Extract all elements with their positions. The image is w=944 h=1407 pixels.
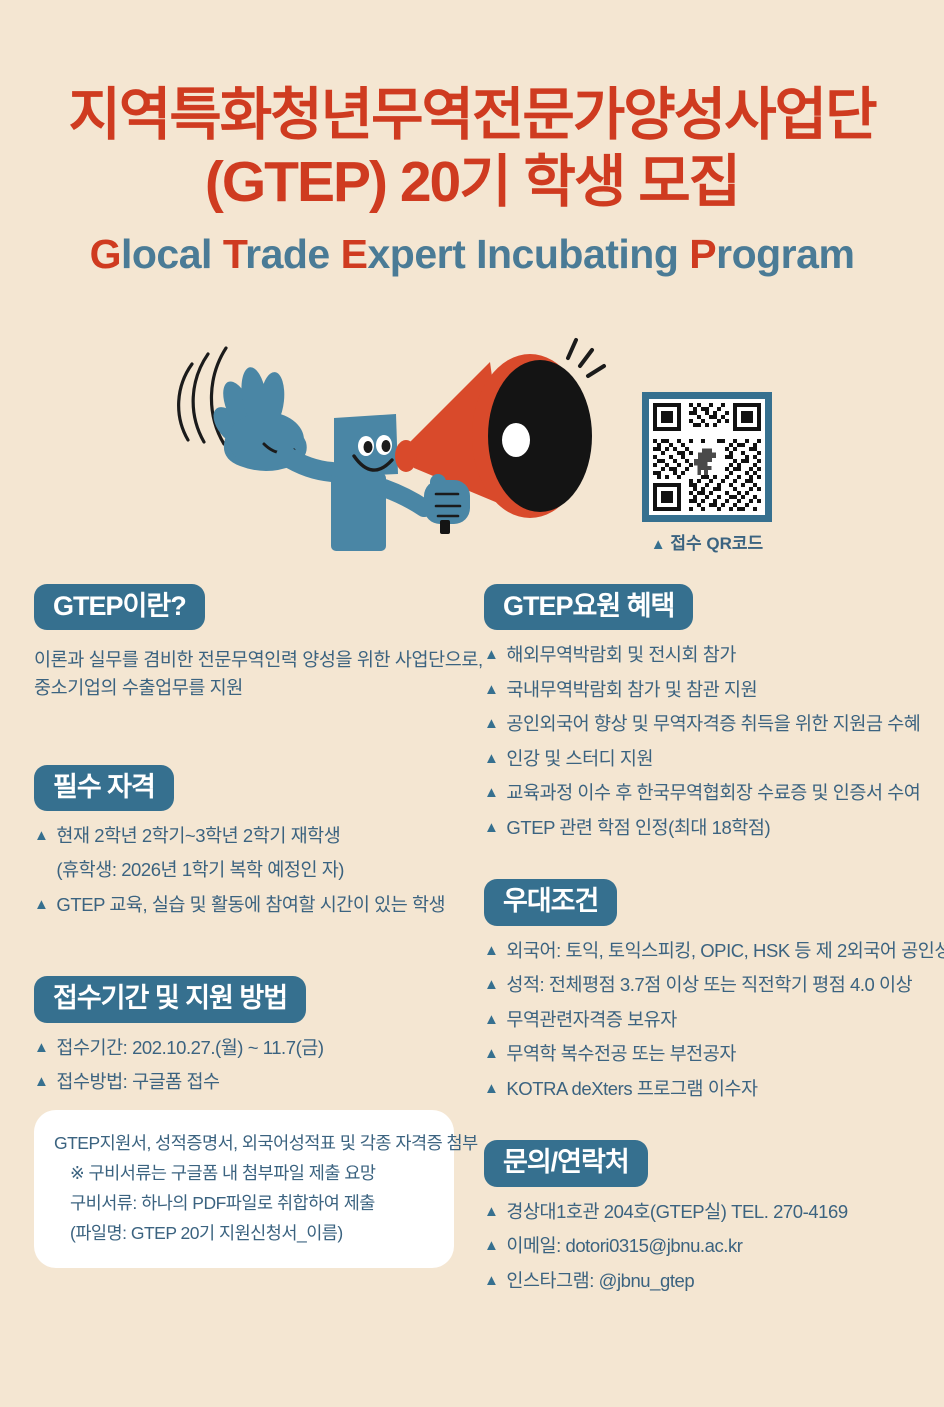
qr-code-svg [649, 399, 765, 515]
what-is-gtep-line-2: 중소기업의 수출업무를 지원 [34, 674, 484, 702]
list-item-text: 인강 및 스터디 지원 [506, 750, 653, 769]
megaphone-highlight [502, 423, 530, 457]
triangle-icon: ▲ [484, 750, 498, 767]
what-is-gtep-paragraph: 이론과 실무를 겸비한 전문무역인력 양성을 위한 사업단으로, 중소기업의 수… [34, 646, 484, 702]
list-item-text: 접수기간: 202.10.27.(월) ~ 11.7(금) [56, 1039, 323, 1058]
subtitle-part-6: P [689, 231, 716, 277]
list-item-text: 외국어: 토익, 토익스피킹, OPIC, HSK 등 제 2외국어 공인성적 … [506, 942, 944, 961]
list-item-text: 접수방법: 구글폼 접수 [56, 1073, 219, 1092]
section-contact: 문의/연락처 ▲경상대1호관 204호(GTEP실) TEL. 270-4169… [484, 1140, 924, 1290]
subtitle-part-7: rogram [716, 231, 854, 277]
list-item: ▲ 접수기간: 202.10.27.(월) ~ 11.7(금) [34, 1039, 484, 1058]
triangle-icon: ▲ [484, 1045, 498, 1062]
list-item-text: 공인외국어 향상 및 무역자격증 취득을 위한 지원금 수혜 [506, 715, 920, 734]
triangle-icon: ▲ [651, 536, 666, 553]
list-item: ▲ (휴학생: 2026년 1학기 복학 예정인 자) [34, 861, 484, 880]
preferential-list: ▲외국어: 토익, 토익스피킹, OPIC, HSK 등 제 2외국어 공인성적… [484, 942, 924, 1099]
contact-office: 경상대1호관 204호(GTEP실) TEL. 270-4169 [506, 1203, 847, 1222]
triangle-icon: ▲ [484, 1272, 498, 1289]
triangle-icon: ▲ [484, 976, 498, 993]
list-item: ▲외국어: 토익, 토익스피킹, OPIC, HSK 등 제 2외국어 공인성적… [484, 942, 924, 961]
subtitle-part-0: G [90, 231, 121, 277]
benefits-list: ▲해외무역박람회 및 전시회 참가 ▲국내무역박람회 참가 및 참관 지원 ▲공… [484, 646, 924, 837]
subtitle-part-4: E [341, 231, 368, 277]
list-item-text: KOTRA deXters 프로그램 이수자 [506, 1080, 757, 1099]
megaphone-character-illustration [168, 328, 618, 583]
poster-title-line-1: 지역특화청년무역전문가양성사업단 [0, 82, 944, 149]
triangle-icon: ▲ [34, 1039, 48, 1056]
qr-code-block[interactable]: ▲ 접수 QR코드 [634, 392, 780, 554]
documents-line-1: GTEP지원서, 성적증명서, 외국어성적표 및 각종 자격증 첨부 [54, 1128, 434, 1158]
section-what-is-gtep: GTEP이란? 이론과 실무를 겸비한 전문무역인력 양성을 위한 사업단으로,… [34, 584, 484, 703]
badge-benefits: GTEP요원 혜택 [484, 584, 693, 630]
section-benefits: GTEP요원 혜택 ▲해외무역박람회 및 전시회 참가 ▲국내무역박람회 참가 … [484, 584, 924, 837]
contact-instagram[interactable]: 인스타그램: @jbnu_gtep [506, 1272, 694, 1291]
triangle-icon: ▲ [484, 1011, 498, 1028]
badge-application: 접수기간 및 지원 방법 [34, 976, 306, 1022]
section-preferential: 우대조건 ▲외국어: 토익, 토익스피킹, OPIC, HSK 등 제 2외국어… [484, 879, 924, 1098]
section-requirements: 필수 자격 ▲ 현재 2학년 2학기~3학년 2학기 재학생 ▲ (휴학생: 2… [34, 765, 484, 915]
triangle-icon: ▲ [484, 819, 498, 836]
list-item: ▲KOTRA deXters 프로그램 이수자 [484, 1080, 924, 1099]
list-item-text: 무역학 복수전공 또는 부전공자 [506, 1045, 735, 1064]
triangle-icon: ▲ [484, 1080, 498, 1097]
list-item: ▲ 접수방법: 구글폼 접수 [34, 1073, 484, 1092]
poster-root: 지역특화청년무역전문가양성사업단 (GTEP) 20기 학생 모집 Glocal… [0, 0, 944, 1407]
triangle-icon: ▲ [484, 715, 498, 732]
poster-title-line-2: (GTEP) 20기 학생 모집 [0, 149, 944, 216]
documents-line-3: 구비서류: 하나의 PDF파일로 취합하여 제출 [54, 1188, 434, 1218]
sound-spark-icon [568, 340, 604, 376]
triangle-icon: ▲ [34, 1073, 48, 1090]
badge-preferential: 우대조건 [484, 879, 617, 925]
qr-code-label-text: 접수 QR코드 [670, 534, 763, 553]
badge-requirements: 필수 자격 [34, 765, 174, 811]
qr-code-label: ▲ 접수 QR코드 [634, 529, 780, 554]
list-item: ▲해외무역박람회 및 전시회 참가 [484, 646, 924, 665]
subtitle-part-1: local [121, 231, 223, 277]
subtitle-part-2: T [223, 231, 245, 277]
triangle-icon: ▲ [484, 784, 498, 801]
triangle-icon: ▲ [34, 827, 48, 844]
list-item-text: 국내무역박람회 참가 및 참관 지원 [506, 681, 757, 700]
list-item-text: GTEP 교육, 실습 및 활동에 참여할 시간이 있는 학생 [56, 896, 445, 915]
left-column: GTEP이란? 이론과 실무를 겸비한 전문무역인력 양성을 위한 사업단으로,… [34, 584, 484, 1268]
list-item: ▲교육과정 이수 후 한국무역협회장 수료증 및 인증서 수여 [484, 784, 924, 803]
section-application: 접수기간 및 지원 방법 ▲ 접수기간: 202.10.27.(월) ~ 11.… [34, 976, 484, 1268]
requirements-list: ▲ 현재 2학년 2학기~3학년 2학기 재학생 ▲ (휴학생: 2026년 1… [34, 827, 484, 915]
qr-code-image[interactable] [642, 392, 772, 522]
list-item: ▲ GTEP 교육, 실습 및 활동에 참여할 시간이 있는 학생 [34, 896, 484, 915]
triangle-icon: ▲ [34, 896, 48, 913]
contact-email[interactable]: 이메일: dotori0315@jbnu.ac.kr [506, 1237, 742, 1256]
right-column: GTEP요원 혜택 ▲해외무역박람회 및 전시회 참가 ▲국내무역박람회 참가 … [484, 584, 924, 1306]
poster-title-block: 지역특화청년무역전문가양성사업단 (GTEP) 20기 학생 모집 Glocal… [0, 82, 944, 278]
list-item[interactable]: ▲이메일: dotori0315@jbnu.ac.kr [484, 1237, 924, 1256]
triangle-icon: ▲ [484, 681, 498, 698]
list-item: ▲인강 및 스터디 지원 [484, 750, 924, 769]
triangle-icon: ▲ [484, 942, 498, 959]
subtitle-part-3: rade [245, 231, 341, 277]
list-item[interactable]: ▲인스타그램: @jbnu_gtep [484, 1272, 924, 1291]
list-item-text: 교육과정 이수 후 한국무역협회장 수료증 및 인증서 수여 [506, 784, 920, 803]
subtitle-part-5: xpert Incubating [367, 231, 689, 277]
megaphone-handle [440, 520, 450, 534]
triangle-icon: ▲ [484, 1237, 498, 1254]
application-documents-box: GTEP지원서, 성적증명서, 외국어성적표 및 각종 자격증 첨부 ※ 구비서… [34, 1110, 454, 1268]
list-item-text: GTEP 관련 학점 인정(최대 18학점) [506, 819, 770, 838]
list-item: ▲무역학 복수전공 또는 부전공자 [484, 1045, 924, 1064]
triangle-icon: ▲ [484, 646, 498, 663]
list-item: ▲국내무역박람회 참가 및 참관 지원 [484, 681, 924, 700]
what-is-gtep-line-1: 이론과 실무를 겸비한 전문무역인력 양성을 위한 사업단으로, [34, 646, 484, 674]
list-item: ▲성적: 전체평점 3.7점 이상 또는 직전학기 평점 4.0 이상 [484, 976, 924, 995]
list-item: ▲공인외국어 향상 및 무역자격증 취득을 위한 지원금 수혜 [484, 715, 924, 734]
list-item-text: 무역관련자격증 보유자 [506, 1011, 676, 1030]
badge-contact: 문의/연락처 [484, 1140, 648, 1186]
list-item: ▲무역관련자격증 보유자 [484, 1011, 924, 1030]
list-item-text: 현재 2학년 2학기~3학년 2학기 재학생 [56, 827, 340, 846]
poster-subtitle: Glocal Trade Expert Incubating Program [0, 231, 944, 278]
contact-list: ▲경상대1호관 204호(GTEP실) TEL. 270-4169 ▲이메일: … [484, 1203, 924, 1291]
list-item: ▲GTEP 관련 학점 인정(최대 18학점) [484, 819, 924, 838]
badge-what-is-gtep: GTEP이란? [34, 584, 205, 630]
list-item: ▲경상대1호관 204호(GTEP실) TEL. 270-4169 [484, 1203, 924, 1222]
megaphone-character-svg [168, 328, 618, 583]
list-item: ▲ 현재 2학년 2학기~3학년 2학기 재학생 [34, 827, 484, 846]
list-item-text: 성적: 전체평점 3.7점 이상 또는 직전학기 평점 4.0 이상 [506, 976, 912, 995]
application-list: ▲ 접수기간: 202.10.27.(월) ~ 11.7(금) ▲ 접수방법: … [34, 1039, 484, 1092]
triangle-icon: ▲ [484, 1203, 498, 1220]
list-item-text: (휴학생: 2026년 1학기 복학 예정인 자) [56, 861, 344, 880]
documents-line-2: ※ 구비서류는 구글폼 내 첨부파일 제출 요망 [54, 1158, 434, 1188]
documents-line-4: (파일명: GTEP 20기 지원신청서_이름) [54, 1218, 434, 1248]
list-item-text: 해외무역박람회 및 전시회 참가 [506, 646, 735, 665]
